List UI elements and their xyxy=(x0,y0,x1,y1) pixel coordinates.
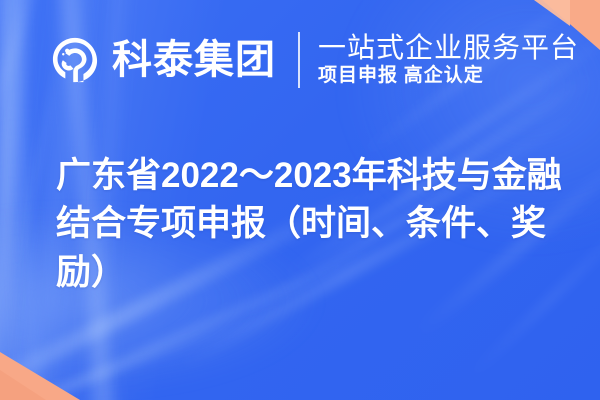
tagline-main: 一站式企业服务平台 xyxy=(318,33,579,63)
brand-name: 科泰集团 xyxy=(112,40,276,80)
header-divider xyxy=(298,32,300,88)
page-title: 广东省2022～2023年科技与金融结合专项申报（时间、条件、奖励） xyxy=(56,152,566,297)
promo-banner: 科泰集团 一站式企业服务平台 项目申报 高企认定 广东省2022～2023年科技… xyxy=(0,0,600,400)
tagline-block: 一站式企业服务平台 项目申报 高企认定 xyxy=(318,33,579,87)
ketai-circular-logo-icon xyxy=(52,37,98,83)
banner-header: 科泰集团 一站式企业服务平台 项目申报 高企认定 xyxy=(52,30,579,90)
tagline-sub: 项目申报 高企认定 xyxy=(318,66,579,87)
